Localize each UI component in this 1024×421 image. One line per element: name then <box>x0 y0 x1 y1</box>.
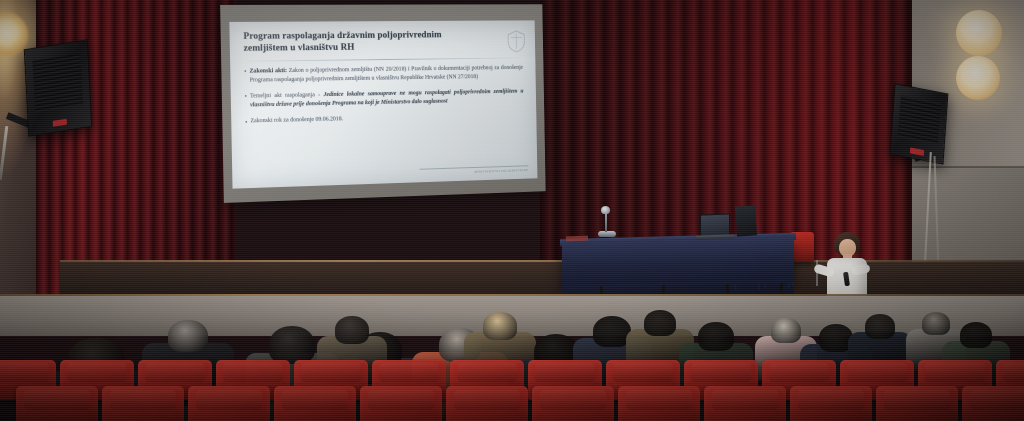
slide-bullet-lead: Temeljni akt raspolaganja - <box>250 92 320 99</box>
documents-on-table <box>566 236 588 242</box>
speaker-grille <box>898 95 940 144</box>
slide-bullet-lead: Zakonski akti: <box>249 68 287 74</box>
wall-light-lower-right <box>956 56 1000 100</box>
attendee-head <box>698 322 734 351</box>
projection-screen: Program raspolaganja državnim poljoprivr… <box>220 4 546 203</box>
attendee-head <box>865 314 895 339</box>
slide-title-divider <box>246 57 521 61</box>
theatre-seat <box>102 386 184 421</box>
av-equipment <box>735 205 757 236</box>
theatre-seat <box>16 386 98 421</box>
stage-chair-legs <box>792 260 818 286</box>
attendee-head <box>922 312 950 335</box>
slide-bullet-text: Zakonski akti: Zakon o poljoprivrednom z… <box>249 64 523 86</box>
attendee-head <box>483 312 517 340</box>
slide-title: Program raspolaganja državnim poljoprivr… <box>243 29 479 55</box>
theatre-seat <box>532 386 614 421</box>
presentation-slide: Program raspolaganja državnim poljoprivr… <box>229 20 537 188</box>
speaker-grille <box>33 54 83 113</box>
slide-bullet-text: Zakonski rok za donošenje 09.06.2018. <box>250 115 343 126</box>
theatre-seat <box>188 386 270 421</box>
bullet-marker-icon: • <box>244 92 247 110</box>
slide-bullet-item: • Zakonski rok za donošenje 09.06.2018. <box>245 112 524 128</box>
speaker-badge <box>53 119 67 127</box>
bullet-marker-icon: • <box>245 118 248 128</box>
microphone-head-icon <box>601 206 610 214</box>
theatre-seat <box>876 386 958 421</box>
slide-bullet-text: Temeljni akt raspolaganja - Jedinice lok… <box>250 88 524 111</box>
attendee-head <box>168 320 208 352</box>
theatre-seat <box>790 386 872 421</box>
slide-bullet-list: • Zakonski akti: Zakon o poljoprivrednom… <box>244 64 524 127</box>
theatre-seat <box>446 386 528 421</box>
attendee-head <box>335 316 369 344</box>
theatre-seat <box>360 386 442 421</box>
attendee-head <box>960 322 992 348</box>
microphone-base <box>598 231 616 237</box>
pa-speaker-right <box>890 83 949 165</box>
bullet-marker-icon: • <box>244 67 247 85</box>
attendee-head <box>644 310 676 336</box>
wall-light-upper-right <box>956 10 1002 56</box>
theatre-seat <box>274 386 356 421</box>
slide-bullet-item: • Zakonski akti: Zakon o poljoprivrednom… <box>244 64 523 86</box>
slide-bullet-body: Zakon o poljoprivrednom zemljištu (NN 20… <box>250 65 523 84</box>
theatre-seat <box>962 386 1024 421</box>
pa-speaker-left <box>24 39 93 136</box>
speaker-badge <box>910 147 924 156</box>
slide-bullet-item: • Temeljni akt raspolaganja - Jedinice l… <box>244 88 523 111</box>
attendee-head <box>269 326 315 364</box>
theatre-seat <box>618 386 700 421</box>
conference-hall-photo: Program raspolaganja državnim poljoprivr… <box>0 0 1024 421</box>
theatre-seat <box>704 386 786 421</box>
coat-of-arms-watermark-icon <box>506 30 526 53</box>
attendee-head <box>771 318 801 343</box>
audience-seating <box>0 318 1024 421</box>
presenter-arm-right <box>851 264 870 276</box>
microphone-neck <box>605 211 607 232</box>
